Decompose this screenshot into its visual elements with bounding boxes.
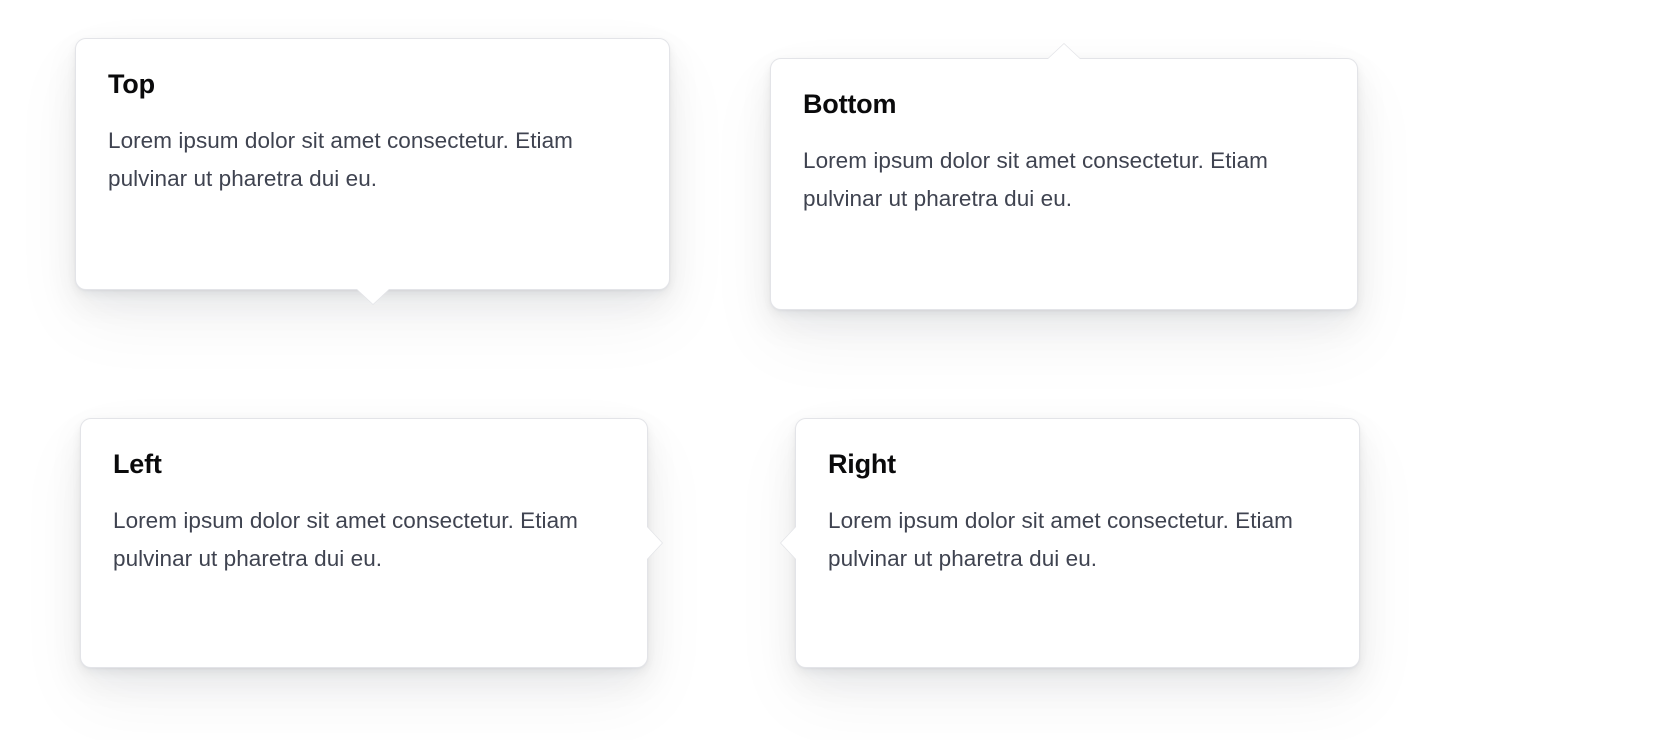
- tooltip-body-bottom: Lorem ipsum dolor sit amet consectetur. …: [803, 142, 1323, 218]
- tooltip-title-right: Right: [828, 449, 1325, 480]
- tooltip-arrow-down-fill: [357, 289, 389, 304]
- tooltip-body-right: Lorem ipsum dolor sit amet consectetur. …: [828, 502, 1325, 578]
- tooltip-title-left: Left: [113, 449, 613, 480]
- tooltip-arrow-down-icon: [356, 289, 390, 305]
- tooltip-card-top: Top Lorem ipsum dolor sit amet consectet…: [75, 38, 670, 290]
- tooltip-title-bottom: Bottom: [803, 89, 1323, 120]
- tooltip-arrow-up-fill: [1048, 44, 1080, 59]
- tooltip-card-left: Left Lorem ipsum dolor sit amet consecte…: [80, 418, 648, 668]
- tooltip-arrow-left-icon: [780, 526, 796, 560]
- tooltip-body-top: Lorem ipsum dolor sit amet consectetur. …: [108, 122, 635, 198]
- tooltip-body-left: Lorem ipsum dolor sit amet consectetur. …: [113, 502, 613, 578]
- tooltip-card-bottom: Bottom Lorem ipsum dolor sit amet consec…: [770, 58, 1358, 310]
- tooltip-arrow-up-icon: [1047, 43, 1081, 59]
- tooltip-arrow-left-fill: [781, 527, 796, 559]
- tooltip-arrow-right-fill: [647, 527, 662, 559]
- tooltip-title-top: Top: [108, 69, 635, 100]
- tooltip-arrow-right-icon: [647, 526, 663, 560]
- tooltip-showcase: Top Lorem ipsum dolor sit amet consectet…: [0, 0, 1672, 740]
- tooltip-card-right: Right Lorem ipsum dolor sit amet consect…: [795, 418, 1360, 668]
